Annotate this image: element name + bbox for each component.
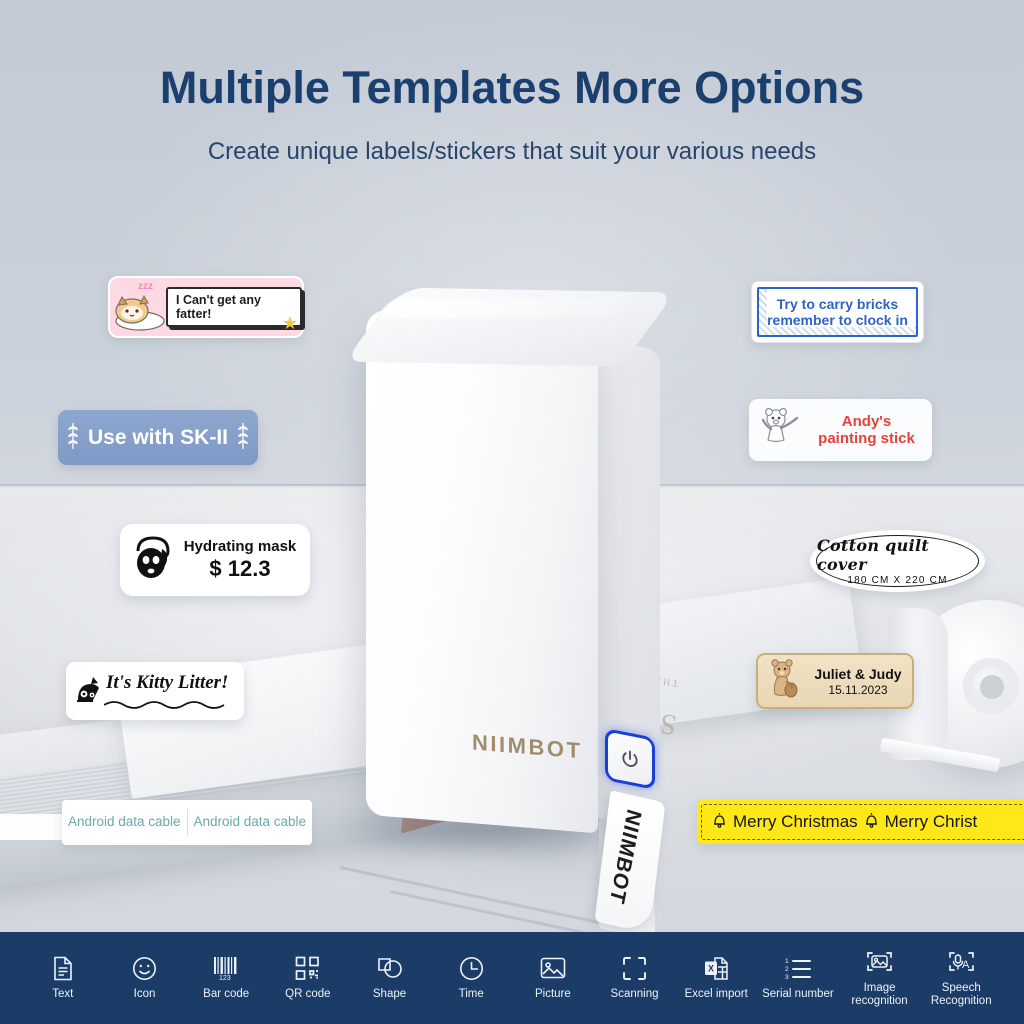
power-icon	[620, 747, 640, 771]
cable-flag-tail	[0, 814, 66, 840]
cable-text-left: Android data cable	[62, 815, 187, 830]
toolbar-item-image-recognition[interactable]: Image recognition	[839, 949, 921, 1008]
feature-toolbar: Text Icon	[0, 932, 1024, 1024]
toolbar-label: Excel import	[685, 988, 748, 1001]
smiley-face-icon	[132, 955, 157, 981]
svg-text:X: X	[708, 963, 714, 973]
label-skii-sticker: Use with SK-II	[58, 410, 258, 465]
label-cable-sticker: Android data cable Android data cable	[62, 800, 312, 845]
toolbar-item-excel-import[interactable]: X Excel import	[675, 955, 757, 1001]
cable-text-right: Android data cable	[188, 815, 313, 830]
toolbar-label: Icon	[134, 988, 156, 1001]
juliet-text-block: Juliet & Judy 15.11.2023	[810, 666, 906, 697]
christmas-text-2: Merry Christ	[885, 812, 978, 832]
toolbar-item-time[interactable]: Time	[430, 955, 512, 1001]
label-roll-core	[980, 675, 1004, 699]
toolbar-label: QR code	[285, 988, 330, 1001]
wheat-icon	[236, 421, 250, 455]
bell-icon	[864, 812, 879, 832]
andy-line-2: painting stick	[811, 430, 922, 447]
bell-icon	[712, 812, 727, 832]
toolbar-item-speech-recognition[interactable]: A Speech Recognition	[920, 949, 1002, 1008]
label-juliet-sticker: Juliet & Judy 15.11.2023	[756, 653, 914, 709]
toolbar-label: Scanning	[611, 988, 659, 1001]
svg-text:A: A	[962, 959, 970, 971]
face-mask-icon	[132, 535, 174, 586]
power-button[interactable]	[605, 728, 655, 790]
sleeping-cat-icon: zzz	[110, 281, 168, 333]
toolbar-label: Bar code	[203, 988, 249, 1001]
toolbar-label: Image recognition	[839, 982, 921, 1008]
toolbar-label: Serial number	[762, 988, 834, 1001]
kitty-text: It's Kitty Litter!	[106, 672, 228, 694]
kitty-wave-line	[104, 698, 234, 712]
document-text-icon	[52, 955, 74, 981]
niimbot-printer: NIIMBOT NIIMBOT	[366, 284, 666, 844]
toolbar-label: Shape	[373, 988, 406, 1001]
quilt-dimensions: 180 CM X 220 CM	[847, 575, 947, 586]
andy-line-1: Andy's	[811, 413, 922, 430]
label-bricks-sticker: Try to carry bricks remember to clock in	[751, 281, 924, 343]
dabbing-bear-icon	[759, 405, 805, 456]
toolbar-item-qrcode[interactable]: QR code	[267, 955, 349, 1001]
toolbar-label: Text	[52, 988, 73, 1001]
quilt-oval-frame: Cotton quilt cover 180 CM X 220 CM	[816, 535, 979, 587]
bricks-line-1: Try to carry bricks	[767, 296, 908, 312]
toolbar-item-text[interactable]: Text	[22, 955, 104, 1001]
numbered-list-icon: 123	[785, 955, 811, 981]
label-kitty-sticker: It's Kitty Litter!	[66, 662, 244, 720]
page-title: Multiple Templates More Options	[0, 62, 1024, 114]
label-andy-sticker: Andy's painting stick	[749, 399, 932, 461]
svg-text:2: 2	[785, 966, 789, 973]
star-icon: ★	[282, 313, 298, 334]
excel-file-icon: X	[704, 955, 728, 981]
kitty-content: It's Kitty Litter!	[74, 662, 236, 720]
christmas-text-1: Merry Christmas	[733, 812, 858, 832]
label-mask-sticker: Hydrating mask $ 12.3	[120, 524, 310, 596]
toolbar-item-shape[interactable]: Shape	[349, 955, 431, 1001]
image-recognition-icon	[866, 949, 893, 975]
toolbar-item-scanning[interactable]: Scanning	[594, 955, 676, 1001]
wheat-icon	[66, 421, 80, 455]
label-quilt-sticker: Cotton quilt cover 180 CM X 220 CM	[810, 530, 985, 592]
bricks-line-2: remember to clock in	[767, 312, 908, 328]
toolbar-label: Speech Recognition	[920, 982, 1002, 1008]
skii-label-text: Use with SK-II	[88, 426, 228, 450]
mask-product-name: Hydrating mask	[182, 538, 298, 555]
andy-text-block: Andy's painting stick	[811, 413, 922, 448]
speech-recognition-icon: A	[948, 949, 975, 975]
label-christmas-sticker: Merry Christmas Merry Christ	[697, 800, 1024, 844]
qr-code-icon	[295, 955, 320, 981]
toolbar-item-picture[interactable]: Picture	[512, 955, 594, 1001]
mask-price: $ 12.3	[182, 556, 298, 582]
clock-icon	[459, 955, 484, 981]
bricks-text-frame: Try to carry bricks remember to clock in	[757, 287, 918, 337]
promo-image: THE FUTURE SHAPE NIIMBOT NIIMBOT	[0, 0, 1024, 1024]
toolbar-label: Picture	[535, 988, 571, 1001]
teddy-bear-icon	[764, 656, 806, 707]
christmas-dashed-frame: Merry Christmas Merry Christ	[701, 804, 1024, 840]
toolbar-item-icon[interactable]: Icon	[104, 955, 186, 1001]
toolbar-item-serial-number[interactable]: 123 Serial number	[757, 955, 839, 1001]
quilt-product-name: Cotton quilt cover	[817, 536, 978, 574]
mask-text-block: Hydrating mask $ 12.3	[182, 538, 298, 582]
printer-top-highlight	[376, 298, 631, 318]
toolbar-item-barcode[interactable]: 123 Bar code	[185, 955, 267, 1001]
shapes-icon	[377, 955, 403, 981]
scan-frame-icon	[622, 955, 647, 981]
svg-text:1: 1	[785, 958, 789, 965]
juliet-date: 15.11.2023	[810, 683, 906, 697]
cat-zzz-label: zzz	[138, 281, 153, 292]
svg-text:123: 123	[219, 975, 231, 981]
toolbar-label: Time	[459, 988, 484, 1001]
juliet-names: Juliet & Judy	[810, 666, 906, 682]
image-icon	[540, 955, 566, 981]
printer-tape-text: NIIMBOT	[604, 806, 645, 906]
label-cat-sticker: zzz I Can't get any fatter! ★	[108, 276, 304, 338]
barcode-icon: 123	[213, 955, 239, 981]
svg-text:3: 3	[785, 974, 789, 980]
page-subtitle: Create unique labels/stickers that suit …	[0, 138, 1024, 166]
